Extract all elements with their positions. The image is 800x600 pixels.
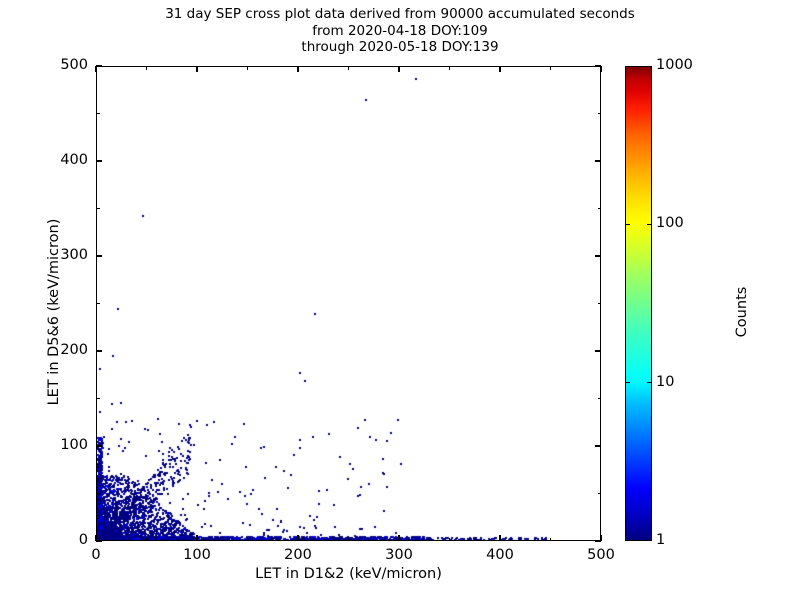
y-tick-major-right xyxy=(595,540,601,541)
y-tick-major xyxy=(96,350,102,351)
x-tick-minor xyxy=(550,538,551,542)
x-tick-major xyxy=(297,535,298,541)
x-tick-label: 0 xyxy=(66,547,126,563)
colorbar-tick-label: 1 xyxy=(656,532,665,548)
y-tick-major xyxy=(96,255,102,256)
y-axis-label: LET in D5&6 (keV/micron) xyxy=(46,162,62,462)
y-tick-major xyxy=(96,445,102,446)
title-line-1: 31 day SEP cross plot data derived from … xyxy=(0,6,800,23)
colorbar-tick-label: 100 xyxy=(656,215,684,231)
y-tick-minor-right xyxy=(598,113,602,114)
y-tick-major xyxy=(96,65,102,66)
y-tick-major-right xyxy=(595,350,601,351)
x-tick-major-top xyxy=(499,66,500,72)
x-tick-minor xyxy=(247,538,248,542)
x-tick-label: 200 xyxy=(268,547,328,563)
colorbar-gradient xyxy=(626,67,651,540)
y-tick-major-right xyxy=(595,160,601,161)
x-tick-major xyxy=(398,535,399,541)
x-tick-major-top xyxy=(196,66,197,72)
colorbar-tick xyxy=(625,224,630,225)
title-line-3: through 2020-05-18 DOY:139 xyxy=(0,39,800,56)
y-tick-major-right xyxy=(595,65,601,66)
scatter-plot-figure: 31 day SEP cross plot data derived from … xyxy=(0,0,800,600)
x-tick-major xyxy=(196,535,197,541)
y-tick-label: 0 xyxy=(28,532,88,548)
colorbar xyxy=(625,66,652,541)
x-tick-minor xyxy=(348,538,349,542)
y-tick-minor xyxy=(96,493,100,494)
y-tick-major-right xyxy=(595,445,601,446)
scatter-canvas xyxy=(97,67,601,541)
y-tick-minor xyxy=(96,208,100,209)
x-tick-label: 400 xyxy=(470,547,530,563)
scatter-data-layer xyxy=(97,67,600,540)
plot-area xyxy=(96,66,601,541)
x-tick-minor xyxy=(146,538,147,542)
y-tick-minor-right xyxy=(598,303,602,304)
x-tick-minor-top xyxy=(348,66,349,70)
x-tick-label: 100 xyxy=(167,547,227,563)
x-tick-label: 300 xyxy=(369,547,429,563)
colorbar-tick-label: 1000 xyxy=(656,57,693,73)
colorbar-tick-right xyxy=(647,382,652,383)
x-axis-label: LET in D1&2 (keV/micron) xyxy=(96,566,601,582)
y-tick-minor xyxy=(96,113,100,114)
x-tick-major-top xyxy=(297,66,298,72)
figure-title: 31 day SEP cross plot data derived from … xyxy=(0,6,800,56)
colorbar-tick-label: 10 xyxy=(656,374,674,390)
colorbar-label: Counts xyxy=(734,162,750,462)
y-tick-minor-right xyxy=(598,208,602,209)
y-tick-minor xyxy=(96,398,100,399)
x-tick-major xyxy=(499,535,500,541)
x-tick-major-top xyxy=(95,66,96,72)
x-tick-minor xyxy=(449,538,450,542)
y-tick-major-right xyxy=(595,255,601,256)
x-tick-minor-top xyxy=(550,66,551,70)
title-line-2: from 2020-04-18 DOY:109 xyxy=(0,23,800,40)
x-tick-major-top xyxy=(600,66,601,72)
x-tick-major-top xyxy=(398,66,399,72)
y-tick-minor-right xyxy=(598,493,602,494)
y-tick-minor-right xyxy=(598,398,602,399)
x-tick-label: 500 xyxy=(571,547,631,563)
colorbar-tick xyxy=(625,382,630,383)
x-tick-minor-top xyxy=(146,66,147,70)
y-tick-label: 500 xyxy=(28,57,88,73)
y-tick-minor xyxy=(96,303,100,304)
y-tick-major xyxy=(96,540,102,541)
colorbar-tick-right xyxy=(647,224,652,225)
x-tick-minor-top xyxy=(247,66,248,70)
y-tick-major xyxy=(96,160,102,161)
x-tick-minor-top xyxy=(449,66,450,70)
